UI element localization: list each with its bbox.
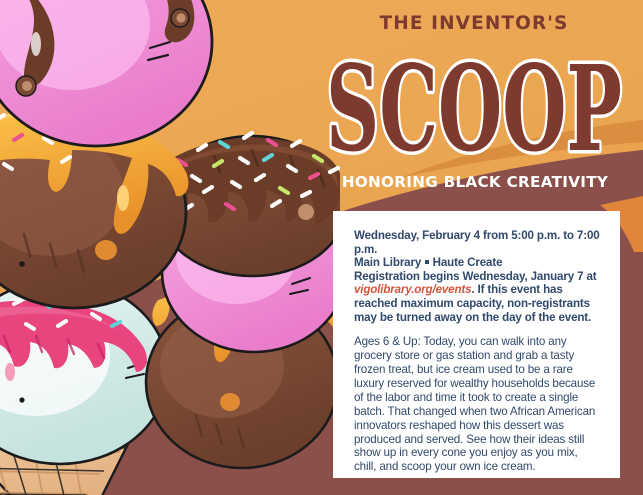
bullet-separator-icon — [425, 260, 429, 264]
event-program: Haute Create — [433, 256, 503, 269]
event-info-card: Wednesday, February 4 from 5:00 p.m. to … — [333, 211, 620, 478]
tagline-text: HONORING BLACK CREATIVITY — [324, 173, 626, 191]
ice-cream-illustration — [0, 0, 340, 495]
scoop-wordmark: SCOOP — [318, 38, 630, 178]
kicker-text: THE INVENTOR'S — [324, 13, 624, 34]
registration-url-link[interactable]: vigolibrary.org/events — [354, 283, 471, 296]
svg-text:SCOOP: SCOOP — [326, 39, 622, 178]
event-datetime: Wednesday, February 4 from 5:00 p.m. to … — [354, 229, 600, 256]
event-location: Main Library — [354, 256, 421, 269]
event-details-block: Wednesday, February 4 from 5:00 p.m. to … — [354, 229, 601, 324]
flyer-canvas: THE INVENTOR'S SCOOP HONORING BLACK CREA… — [0, 0, 643, 495]
event-description: Ages 6 & Up: Today, you can walk into an… — [354, 335, 601, 474]
registration-prefix: Registration begins Wednesday, January 7… — [354, 270, 596, 283]
